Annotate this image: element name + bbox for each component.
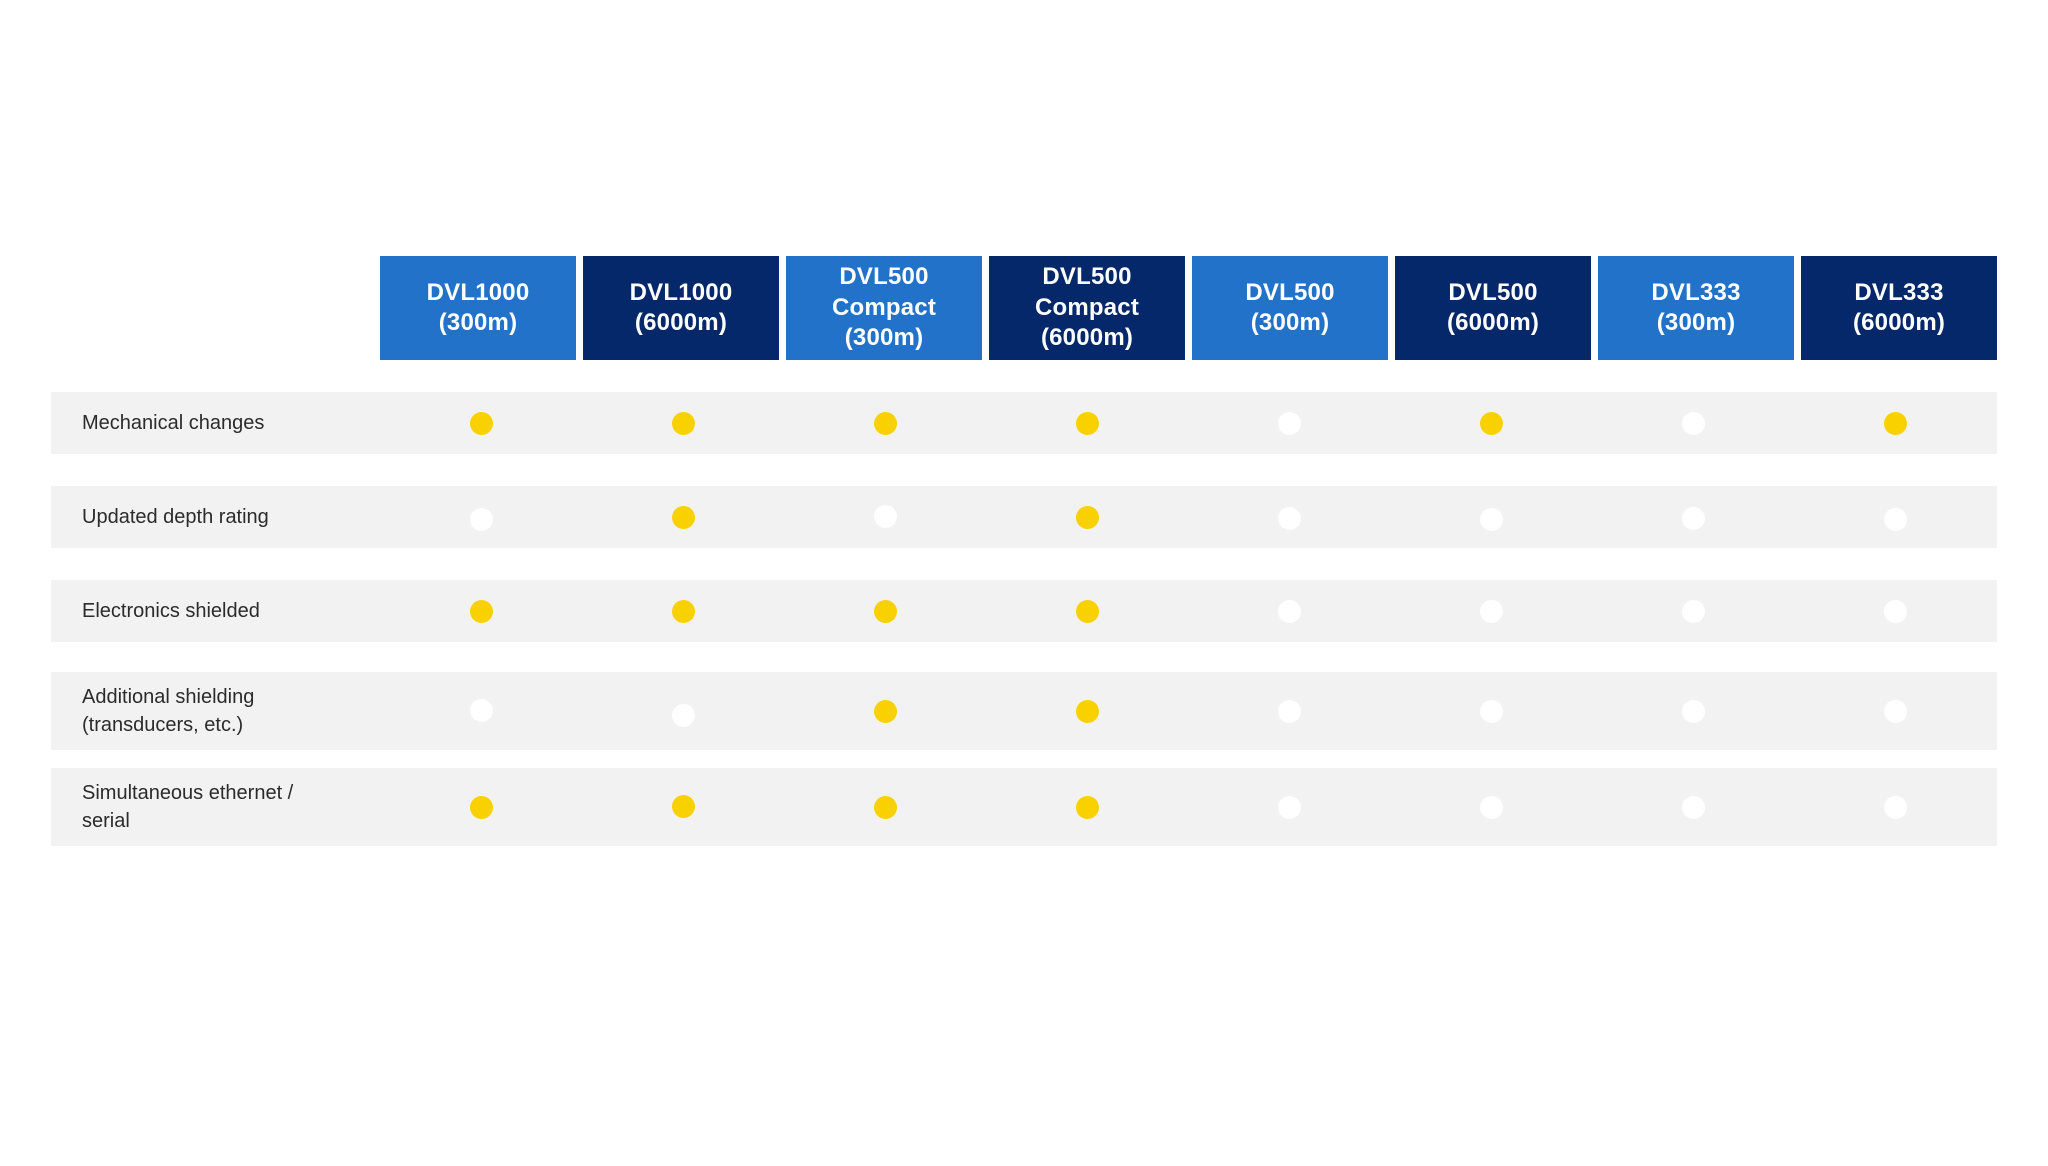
supported-dot-icon <box>1076 506 1099 529</box>
feature-cell <box>1189 580 1391 642</box>
feature-cell <box>1189 392 1391 454</box>
not-supported-dot-icon <box>1278 600 1301 623</box>
table-header-row: DVL1000(300m)DVL1000(6000m)DVL500Compact… <box>380 256 1997 360</box>
feature-cell <box>986 392 1188 454</box>
not-supported-dot-icon <box>1682 700 1705 723</box>
feature-cell <box>380 672 582 750</box>
column-header-7[interactable]: DVL333(300m) <box>1598 256 1794 360</box>
supported-dot-icon <box>1076 600 1099 623</box>
feature-cell <box>1391 486 1593 548</box>
feature-cell <box>582 672 784 750</box>
row-cells <box>380 486 1997 548</box>
not-supported-dot-icon <box>470 508 493 531</box>
feature-cell <box>784 580 986 642</box>
column-header-model: DVL500 <box>1447 278 1539 308</box>
column-header-5[interactable]: DVL500(300m) <box>1192 256 1388 360</box>
not-supported-dot-icon <box>1884 508 1907 531</box>
column-header-4[interactable]: DVL500Compact(6000m) <box>989 256 1185 360</box>
supported-dot-icon <box>672 600 695 623</box>
feature-cell <box>582 580 784 642</box>
supported-dot-icon <box>470 412 493 435</box>
feature-cell <box>1391 768 1593 846</box>
feature-cell <box>1795 486 1997 548</box>
feature-cell <box>784 392 986 454</box>
not-supported-dot-icon <box>1480 796 1503 819</box>
not-supported-dot-icon <box>1480 600 1503 623</box>
not-supported-dot-icon <box>1682 507 1705 530</box>
feature-cell <box>986 672 1188 750</box>
column-header-depth: (6000m) <box>1853 308 1945 338</box>
feature-cell <box>1593 392 1795 454</box>
not-supported-dot-icon <box>1278 412 1301 435</box>
supported-dot-icon <box>874 700 897 723</box>
feature-cell <box>1795 392 1997 454</box>
table-row: Additional shielding (transducers, etc.) <box>51 672 1997 750</box>
feature-cell <box>784 672 986 750</box>
row-label: Simultaneous ethernet / serial <box>51 779 380 836</box>
column-header-depth: (300m) <box>1651 308 1740 338</box>
dvl-comparison-table: DVL1000(300m)DVL1000(6000m)DVL500Compact… <box>0 0 2048 1166</box>
not-supported-dot-icon <box>1682 796 1705 819</box>
column-header-2[interactable]: DVL1000(6000m) <box>583 256 779 360</box>
table-row: Electronics shielded <box>51 580 1997 642</box>
feature-cell <box>582 768 784 846</box>
column-header-compact: Compact <box>832 293 936 323</box>
column-header-model: DVL500 <box>1245 278 1334 308</box>
feature-cell <box>986 768 1188 846</box>
supported-dot-icon <box>874 796 897 819</box>
supported-dot-icon <box>470 600 493 623</box>
table-row: Simultaneous ethernet / serial <box>51 768 1997 846</box>
column-header-compact: Compact <box>1035 293 1139 323</box>
supported-dot-icon <box>874 412 897 435</box>
feature-cell <box>1593 672 1795 750</box>
column-header-1[interactable]: DVL1000(300m) <box>380 256 576 360</box>
feature-cell <box>1593 768 1795 846</box>
feature-cell <box>1189 486 1391 548</box>
feature-cell <box>1593 486 1795 548</box>
column-header-model: DVL1000 <box>427 278 530 308</box>
table-row: Mechanical changes <box>51 392 1997 454</box>
table-row: Updated depth rating <box>51 486 1997 548</box>
not-supported-dot-icon <box>1278 796 1301 819</box>
feature-cell <box>380 768 582 846</box>
row-cells <box>380 768 1997 846</box>
not-supported-dot-icon <box>1480 508 1503 531</box>
feature-cell <box>784 768 986 846</box>
column-header-depth: (6000m) <box>1447 308 1539 338</box>
row-cells <box>380 580 1997 642</box>
column-header-text: DVL500(300m) <box>1245 278 1334 339</box>
row-label: Additional shielding (transducers, etc.) <box>51 683 380 740</box>
supported-dot-icon <box>470 796 493 819</box>
column-header-text: DVL500(6000m) <box>1447 278 1539 339</box>
column-header-model: DVL333 <box>1853 278 1945 308</box>
row-label: Electronics shielded <box>51 597 380 625</box>
feature-cell <box>1391 392 1593 454</box>
supported-dot-icon <box>1076 796 1099 819</box>
feature-cell <box>1795 672 1997 750</box>
not-supported-dot-icon <box>1682 412 1705 435</box>
not-supported-dot-icon <box>1480 700 1503 723</box>
column-header-text: DVL1000(6000m) <box>630 278 733 339</box>
column-header-model: DVL333 <box>1651 278 1740 308</box>
not-supported-dot-icon <box>1278 507 1301 530</box>
feature-cell <box>1189 768 1391 846</box>
not-supported-dot-icon <box>1682 600 1705 623</box>
column-header-text: DVL333(6000m) <box>1853 278 1945 339</box>
not-supported-dot-icon <box>470 699 493 722</box>
feature-cell <box>1189 672 1391 750</box>
feature-cell <box>1593 580 1795 642</box>
not-supported-dot-icon <box>1884 600 1907 623</box>
column-header-text: DVL500Compact(6000m) <box>1035 262 1139 353</box>
feature-cell <box>380 486 582 548</box>
feature-cell <box>380 392 582 454</box>
column-header-depth: (6000m) <box>630 308 733 338</box>
supported-dot-icon <box>1076 700 1099 723</box>
supported-dot-icon <box>672 412 695 435</box>
row-label: Mechanical changes <box>51 409 380 437</box>
column-header-8[interactable]: DVL333(6000m) <box>1801 256 1997 360</box>
feature-cell <box>1795 768 1997 846</box>
not-supported-dot-icon <box>1884 796 1907 819</box>
row-cells <box>380 392 1997 454</box>
column-header-text: DVL333(300m) <box>1651 278 1740 339</box>
feature-cell <box>582 486 784 548</box>
column-header-text: DVL500Compact(300m) <box>832 262 936 353</box>
supported-dot-icon <box>1884 412 1907 435</box>
supported-dot-icon <box>874 600 897 623</box>
feature-cell <box>1391 672 1593 750</box>
not-supported-dot-icon <box>1278 700 1301 723</box>
column-header-model: DVL500 <box>1035 262 1139 292</box>
supported-dot-icon <box>672 795 695 818</box>
supported-dot-icon <box>1480 412 1503 435</box>
table-body: Mechanical changesUpdated depth ratingEl… <box>51 392 1997 846</box>
not-supported-dot-icon <box>1884 700 1907 723</box>
column-header-depth: (300m) <box>427 308 530 338</box>
column-header-depth: (300m) <box>1245 308 1334 338</box>
column-header-depth: (6000m) <box>1035 323 1139 353</box>
column-header-text: DVL1000(300m) <box>427 278 530 339</box>
supported-dot-icon <box>672 506 695 529</box>
feature-cell <box>784 486 986 548</box>
not-supported-dot-icon <box>874 505 897 528</box>
feature-cell <box>1795 580 1997 642</box>
supported-dot-icon <box>1076 412 1099 435</box>
column-header-3[interactable]: DVL500Compact(300m) <box>786 256 982 360</box>
feature-cell <box>582 392 784 454</box>
row-cells <box>380 672 1997 750</box>
feature-cell <box>986 580 1188 642</box>
feature-cell <box>1391 580 1593 642</box>
column-header-model: DVL1000 <box>630 278 733 308</box>
column-header-depth: (300m) <box>832 323 936 353</box>
row-label: Updated depth rating <box>51 503 380 531</box>
column-header-6[interactable]: DVL500(6000m) <box>1395 256 1591 360</box>
not-supported-dot-icon <box>672 704 695 727</box>
feature-cell <box>986 486 1188 548</box>
column-header-model: DVL500 <box>832 262 936 292</box>
feature-cell <box>380 580 582 642</box>
